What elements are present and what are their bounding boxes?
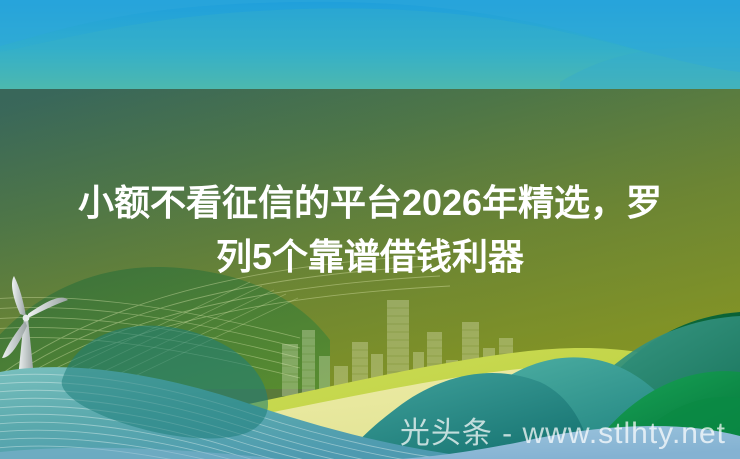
sky-group xyxy=(0,0,740,89)
turbine-hub xyxy=(23,315,30,322)
poster-canvas: 小额不看征信的平台2026年精选，罗 列5个靠谱借钱利器 光头条 - www.s… xyxy=(0,0,740,459)
building xyxy=(282,344,298,396)
sky-swoosh-group xyxy=(0,0,740,89)
background-artwork xyxy=(0,0,740,459)
